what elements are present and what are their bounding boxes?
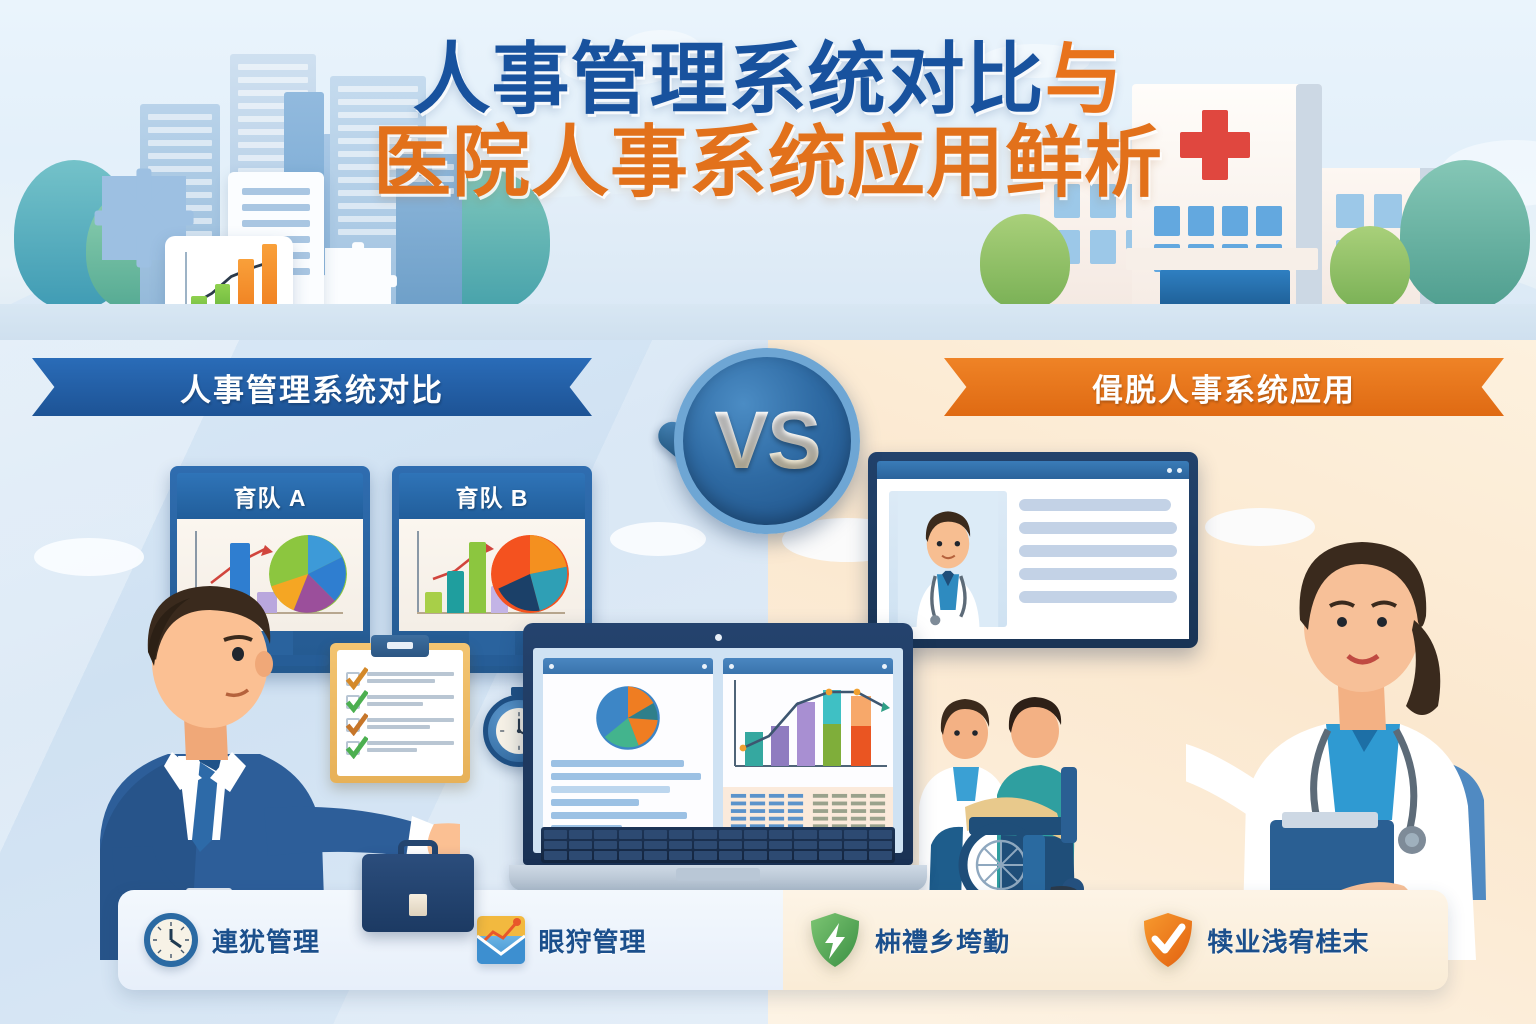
feature-label: 犊业浅宥桂末 [1208,922,1370,959]
dashboard-panel-right [723,658,893,843]
briefcase-body [362,854,474,932]
female-doctor-figure [1186,480,1516,960]
banner-right: 偮脱人事系统应用 [944,358,1504,416]
tree-icon [1330,226,1410,310]
chart-mail-icon [477,916,525,964]
green-shield-icon [809,911,861,969]
feature-item-compliance[interactable]: 犊业浅宥桂末 [1116,890,1449,990]
clock-icon [144,913,198,967]
title-line-2: 医院人事系统应用鲜析 [0,121,1536,204]
checklist-row [346,695,454,709]
feature-label: 連犹管理 [212,922,320,959]
infographic-canvas: 人事管理系统对比与 医院人事系统应用鲜析 人事管理系统对比 偮脱人事系统应用 V… [0,0,1536,1024]
doctor-profile-screen [868,452,1198,648]
text-line [551,812,687,819]
laptop-trackpad[interactable] [676,868,760,881]
briefcase-lock-icon [409,894,427,916]
title-line-1: 人事管理系统对比与 [0,38,1536,121]
check-icon [346,718,360,732]
panel-titlebar [543,658,713,674]
monitor-b-header: 育队 B [399,473,585,519]
tree-icon [980,214,1070,310]
pie-chart-icon [582,682,674,754]
page-title: 人事管理系统对比与 医院人事系统应用鲜析 [0,38,1536,203]
doctor-photo [889,491,1007,627]
briefcase-icon [362,840,474,932]
monitor-a-header: 育队 A [177,473,363,519]
banner-left: 人事管理系统对比 [32,358,592,416]
screen-titlebar [877,461,1189,479]
text-line [551,773,701,780]
magnifier-icon: VS [674,348,860,534]
feature-label: 枾禮乡垮勤 [875,922,1010,959]
vs-badge: VS [636,344,866,559]
feature-label: 眼狩管理 [539,922,647,959]
webcam-icon [715,634,722,641]
clipboard-clip-icon [371,635,429,657]
clipboard-checklist-icon [330,643,470,783]
orange-check-shield-icon [1142,911,1194,969]
text-line [551,786,670,793]
panel-titlebar [723,658,893,674]
title-line-1-main: 人事管理系统对比 [412,35,1044,123]
laptop-screen [533,648,903,853]
laptop-icon [523,623,913,891]
laptop-keyboard[interactable] [541,827,895,863]
text-line [551,760,684,767]
hero-ground [0,304,1536,340]
feature-item-efficiency[interactable]: 枾禮乡垮勤 [783,890,1116,990]
text-line [551,799,639,806]
title-line-1-tail: 与 [1045,35,1124,123]
dashboard-panel-left [543,658,713,843]
check-icon [346,695,360,709]
banner-right-label: 偮脱人事系统应用 [1092,365,1356,410]
nurse-wheelchair-patient-icon [905,675,1135,905]
profile-text-lines [1019,491,1177,627]
checklist-row [346,672,454,686]
vs-label: VS [714,394,819,488]
feature-strip: 連犹管理 眼狩管理 [118,890,1448,990]
pie-chart-icon [491,535,569,613]
bar-line-chart-icon [723,674,893,782]
checklist-row [346,718,454,732]
check-icon [346,741,360,755]
feature-item-performance[interactable]: 眼狩管理 [451,890,784,990]
check-icon [346,672,360,686]
banner-left-label: 人事管理系统对比 [180,365,444,410]
checklist-row [346,741,454,755]
